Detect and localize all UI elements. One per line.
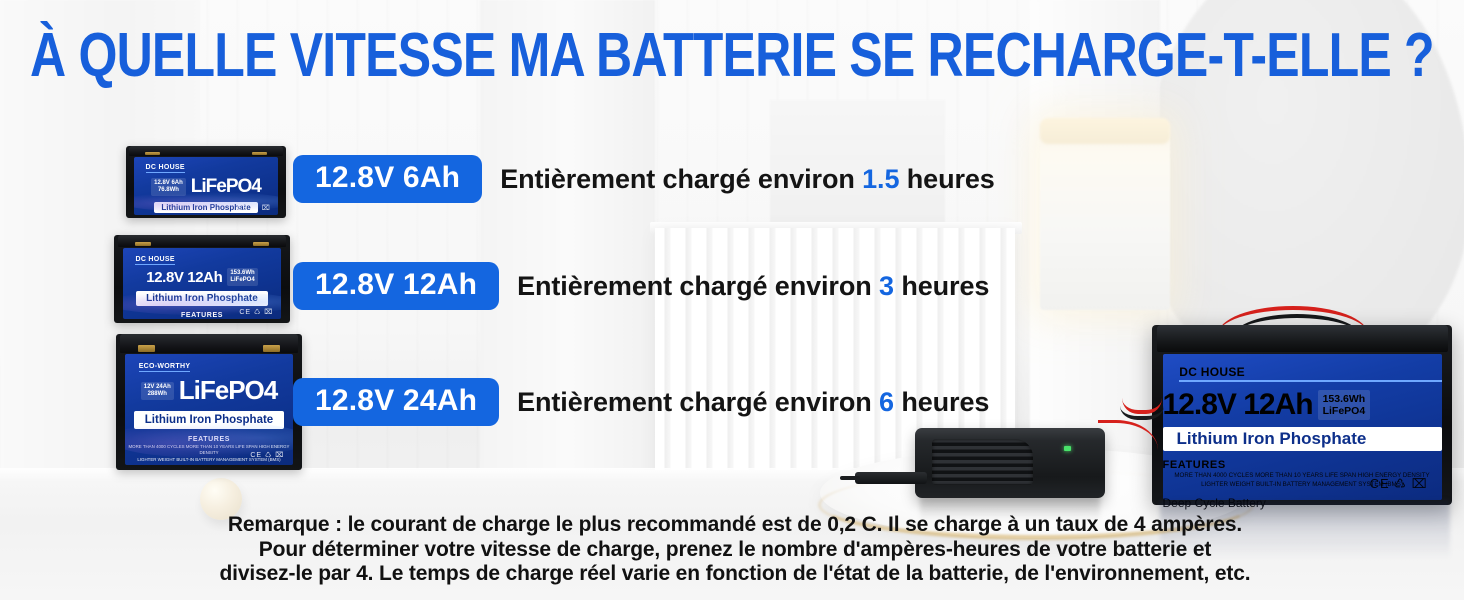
battery-spec-energy: 288Wh: [144, 391, 171, 398]
battery-spec-capacity: 12.8V 12Ah: [1163, 388, 1313, 422]
charge-time-prefix: Entièrement chargé environ: [517, 387, 872, 417]
battery-spec-energy: 153.6Wh: [230, 270, 254, 277]
charger-dc-plug-tip: [840, 476, 860, 480]
battery-subtitle: Lithium Iron Phosphate: [1163, 427, 1442, 451]
footer-note-line-1: Remarque : le courant de charge le plus …: [120, 513, 1350, 538]
charge-time-value: 3: [879, 271, 894, 301]
battery-spec-energy: 76.8Wh: [154, 187, 183, 194]
battery-label-face: DC HOUSE 12.8V 12Ah 153.6Wh LiFePO4 Lith…: [1163, 354, 1442, 500]
spec-row-6ah: 12.8V 6Ah Entièrement chargé environ 1.5…: [293, 155, 995, 203]
battery-features-title: FEATURES: [1163, 459, 1442, 471]
battery-spec-capacity: 12V 24Ah: [144, 384, 171, 391]
battery-terminal-negative: [252, 152, 266, 156]
battery-spec-block: 12V 24Ah 288Wh: [141, 382, 174, 400]
infographic-canvas: À QUELLE VITESSE MA BATTERIE SE RECHARGE…: [0, 0, 1464, 600]
charge-time-text-12ah: Entièrement chargé environ 3 heures: [517, 271, 989, 302]
battery-brand-logo: DC HOUSE: [146, 164, 185, 173]
badge-capacity-12ah[interactable]: 12.8V 12Ah: [293, 262, 499, 310]
battery-image-12ah: DC HOUSE 12.8V 12Ah 153.6Wh LiFePO4 Lith…: [114, 235, 290, 323]
battery-spec-capacity: 12.8V 6Ah: [154, 180, 183, 187]
charge-time-text-6ah: Entièrement chargé environ 1.5 heures: [500, 164, 995, 195]
charger-dc-plug: [855, 472, 927, 484]
spec-row-24ah: 12.8V 24Ah Entièrement chargé environ 6 …: [293, 378, 989, 426]
battery-spec-capacity: 12.8V 12Ah: [146, 269, 222, 286]
charge-time-value: 1.5: [862, 164, 899, 194]
footer-note: Remarque : le courant de charge le plus …: [120, 513, 1350, 587]
charge-time-text-24ah: Entièrement chargé environ 6 heures: [517, 387, 989, 418]
battery-terminal-positive: [145, 152, 159, 156]
battery-brand-logo: DC HOUSE: [135, 256, 174, 265]
battery-cert-icons: CE ♺ ⌧: [237, 204, 271, 212]
footer-note-line-3: divisez-le par 4. Le temps de charge rée…: [120, 562, 1350, 587]
spec-row-12ah: 12.8V 12Ah Entièrement chargé environ 3 …: [293, 262, 989, 310]
battery-terminal-positive: [138, 345, 155, 352]
battery-top-rail: [1157, 325, 1448, 352]
battery-terminal-positive: [135, 242, 151, 246]
battery-brand-logo: ECO-WORTHY: [139, 363, 191, 372]
battery-cert-icons: CE ♺ ⌧: [239, 308, 273, 316]
battery-chemistry: LiFePO4: [230, 277, 254, 284]
charger-brick: [915, 428, 1105, 498]
charger-vent-grille: [932, 439, 1033, 485]
battery-cert-icons: CE ♺ ⌧: [250, 451, 284, 459]
background-lamp: [1040, 120, 1170, 310]
battery-image-6ah: DC HOUSE 12.8V 6Ah 76.8Wh LiFePO4 Lithiu…: [126, 146, 286, 218]
battery-chemistry: LiFePO4: [1323, 405, 1366, 417]
hero-battery-image: DC HOUSE 12.8V 12Ah 153.6Wh LiFePO4 Lith…: [1152, 325, 1452, 505]
badge-capacity-24ah[interactable]: 12.8V 24Ah: [293, 378, 499, 426]
battery-spec-energy: 153.6Wh: [1323, 393, 1366, 405]
battery-spec-line: 12.8V 6Ah 76.8Wh LiFePO4: [151, 176, 261, 198]
battery-spec-block: 153.6Wh LiFePO4: [1318, 390, 1371, 420]
battery-features-title: FEATURES: [188, 436, 230, 443]
battery-chemistry: LiFePO4: [179, 375, 277, 406]
charger-status-led: [1064, 446, 1071, 451]
footer-note-line-2: Pour déterminer votre vitesse de charge,…: [120, 538, 1350, 563]
charge-time-unit: heures: [901, 271, 989, 301]
battery-image-24ah: ECO-WORTHY 12V 24Ah 288Wh LiFePO4 Lithiu…: [116, 334, 302, 470]
battery-spec-line: 12.8V 12Ah 153.6Wh LiFePO4: [146, 268, 257, 286]
battery-label-face: ECO-WORTHY 12V 24Ah 288Wh LiFePO4 Lithiu…: [125, 354, 292, 464]
charge-time-unit: heures: [901, 387, 989, 417]
battery-features-title: FEATURES: [181, 312, 223, 319]
charge-time-unit: heures: [907, 164, 995, 194]
battery-subtitle: Lithium Iron Phosphate: [134, 411, 284, 429]
charge-time-value: 6: [879, 387, 894, 417]
battery-spec-block: 153.6Wh LiFePO4: [227, 268, 257, 286]
battery-terminal-negative: [253, 242, 269, 246]
charge-time-prefix: Entièrement chargé environ: [500, 164, 855, 194]
battery-terminal-negative: [263, 345, 280, 352]
battery-subtitle: Lithium Iron Phosphate: [136, 291, 268, 306]
badge-capacity-6ah[interactable]: 12.8V 6Ah: [293, 155, 482, 203]
battery-spec-line: 12.8V 12Ah 153.6Wh LiFePO4: [1163, 388, 1442, 422]
background-lamp-top: [1040, 118, 1170, 144]
charge-time-prefix: Entièrement chargé environ: [517, 271, 872, 301]
battery-label-face: DC HOUSE 12.8V 12Ah 153.6Wh LiFePO4 Lith…: [123, 248, 281, 319]
battery-spec-line: 12V 24Ah 288Wh LiFePO4: [141, 375, 278, 406]
battery-chemistry: LiFePO4: [191, 176, 261, 198]
battery-label-face: DC HOUSE 12.8V 6Ah 76.8Wh LiFePO4 Lithiu…: [134, 157, 278, 215]
page-title: À QUELLE VITESSE MA BATTERIE SE RECHARGE…: [30, 24, 1164, 88]
battery-spec-block: 12.8V 6Ah 76.8Wh: [151, 178, 186, 196]
battery-cert-icons: CE ♺ ⌧: [1370, 476, 1428, 492]
battery-brand-logo: DC HOUSE: [1179, 365, 1441, 382]
